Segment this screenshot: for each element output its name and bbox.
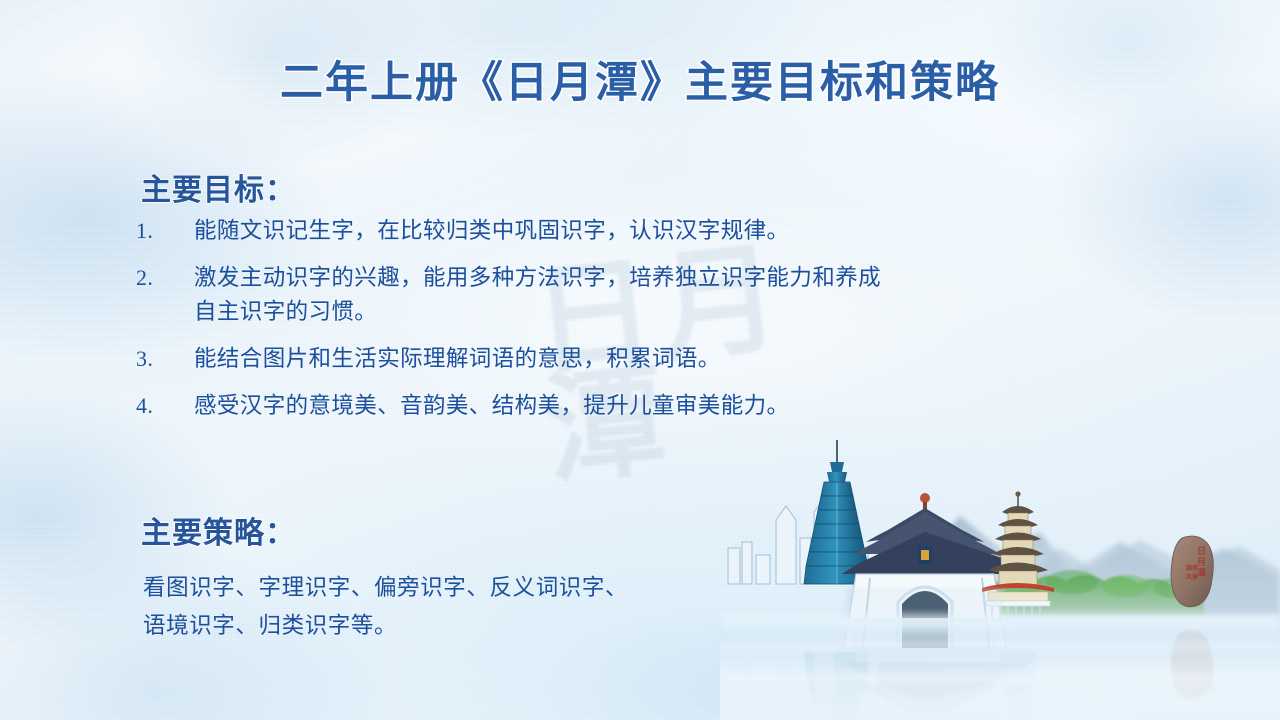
mountain-range	[840, 516, 1280, 620]
cien-pagoda	[982, 491, 1054, 620]
list-item-text: 能随文识记生字，在比较归类中巩固识字，认识汉字规律。	[194, 214, 1016, 248]
goals-list: 1. 能随文识记生字，在比较归类中巩固识字，认识汉字规律。 2. 激发主动识字的…	[136, 214, 1016, 436]
slide-canvas: 日月潭 二年上册《日月潭》主要目标和策略 主要目标： 1. 能随文识记生字，在比…	[0, 0, 1280, 720]
list-item-number: 4.	[136, 389, 194, 423]
water-mist	[720, 614, 1280, 682]
list-item-text: 感受汉字的意境美、音韵美、结构美，提升儿童审美能力。	[194, 389, 1016, 423]
page-title: 二年上册《日月潭》主要目标和策略	[0, 48, 1280, 110]
svg-text:潭: 潭	[1197, 567, 1206, 578]
list-item-number: 2.	[136, 261, 194, 295]
water-reflection	[728, 588, 1213, 720]
svg-text:月: 月	[1196, 557, 1206, 567]
chiang-kai-shek-memorial-hall	[842, 493, 1032, 648]
strategy-heading: 主要策略：	[141, 508, 296, 552]
bottom-fade	[720, 650, 1280, 720]
list-item-text: 激发主动识字的兴趣，能用多种方法识字，培养独立识字能力和养成 自主识字的习惯。	[194, 261, 1016, 329]
water-surface	[720, 618, 1280, 720]
strategy-text: 看图识字、字理识字、偏旁识字、反义词识字、 语境识字、归类识字等。	[143, 569, 743, 645]
svg-text:风景: 风景	[1186, 573, 1198, 581]
list-item-number: 3.	[136, 342, 194, 376]
list-item: 2. 激发主动识字的兴趣，能用多种方法识字，培养独立识字能力和养成 自主识字的习…	[136, 261, 1016, 329]
green-trees	[968, 570, 1204, 615]
sun-moon-lake-stone-marker: 日 月 潭 国家 风景	[1171, 536, 1213, 607]
svg-text:日: 日	[1197, 546, 1206, 556]
list-item: 1. 能随文识记生字，在比较归类中巩固识字，认识汉字规律。	[136, 214, 1016, 248]
list-item: 3. 能结合图片和生活实际理解词语的意思，积累词语。	[136, 342, 1016, 376]
list-item-number: 1.	[136, 214, 194, 248]
city-skyline	[728, 498, 895, 584]
list-item: 4. 感受汉字的意境美、音韵美、结构美，提升儿童审美能力。	[136, 389, 1016, 423]
goals-heading: 主要目标：	[141, 165, 296, 209]
svg-text:国家: 国家	[1186, 564, 1198, 572]
list-item-text: 能结合图片和生活实际理解词语的意思，积累词语。	[194, 342, 1016, 376]
